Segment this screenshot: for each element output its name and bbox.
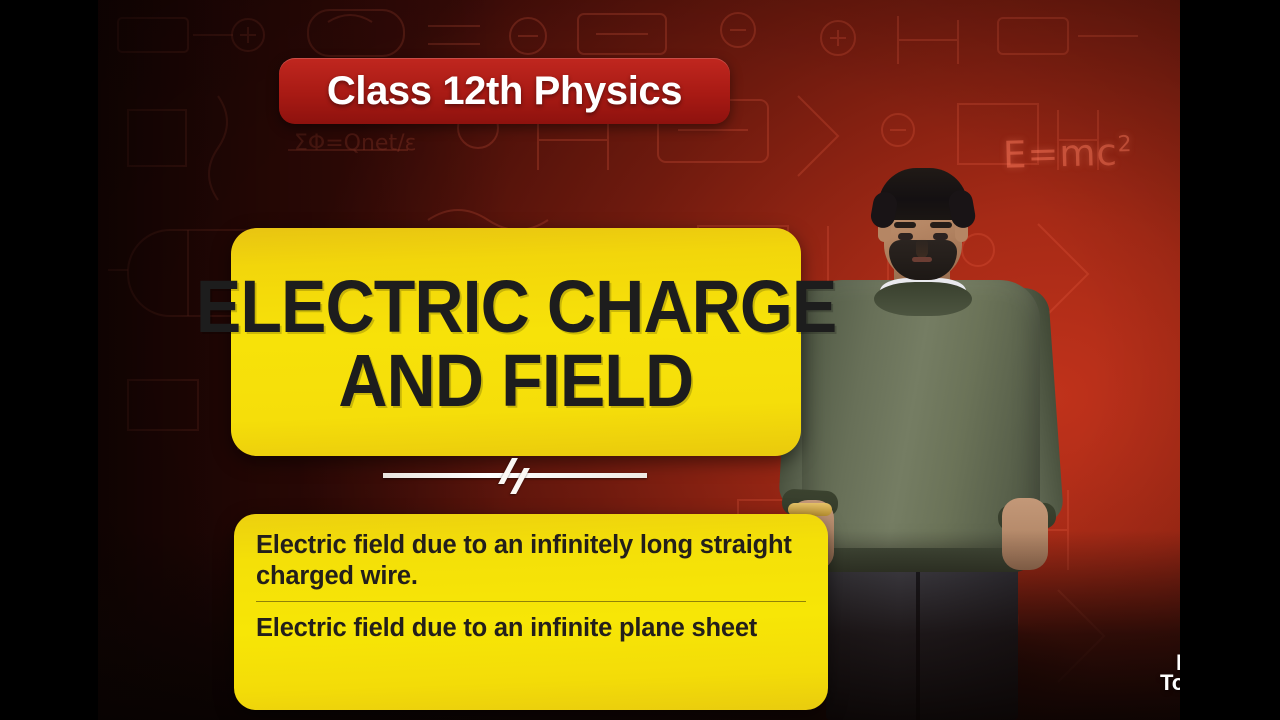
brand-logo: Next Toppers bbox=[1160, 650, 1180, 712]
decorative-divider bbox=[383, 462, 647, 488]
brand-logo-line-2: Toppers bbox=[1160, 672, 1180, 694]
presenter-mouth bbox=[912, 257, 932, 262]
topics-divider bbox=[256, 601, 806, 602]
presenter-eye-right bbox=[933, 233, 948, 240]
chapter-title-panel: ELECTRIC CHARGE AND FIELD bbox=[231, 228, 801, 456]
presenter-eyebrow-left bbox=[894, 222, 916, 228]
chapter-title-line-2: AND FIELD bbox=[339, 346, 694, 416]
presenter-eye-left bbox=[898, 233, 913, 240]
sweater-collar bbox=[874, 282, 972, 316]
chapter-title-line-1: ELECTRIC CHARGE bbox=[196, 272, 837, 342]
topic-item-1: Electric field due to an infinitely long… bbox=[256, 530, 806, 592]
slide-content-area: ΣΦ=Qnet/ε bbox=[98, 0, 1180, 720]
topic-item-2: Electric field due to an infinite plane … bbox=[256, 613, 806, 644]
letterbox-bar-right bbox=[1180, 0, 1280, 720]
presenter-eyebrow-right bbox=[930, 222, 952, 228]
divider-bar bbox=[383, 473, 647, 478]
letterbox-bar-left bbox=[0, 0, 98, 720]
presenter-nose bbox=[916, 238, 928, 258]
divider-slash-1 bbox=[498, 458, 518, 484]
topics-panel: Electric field due to an infinitely long… bbox=[234, 514, 828, 710]
class-badge: Class 12th Physics bbox=[279, 58, 730, 124]
class-badge-label: Class 12th Physics bbox=[327, 69, 682, 114]
video-frame-stage: ΣΦ=Qnet/ε bbox=[0, 0, 1280, 720]
